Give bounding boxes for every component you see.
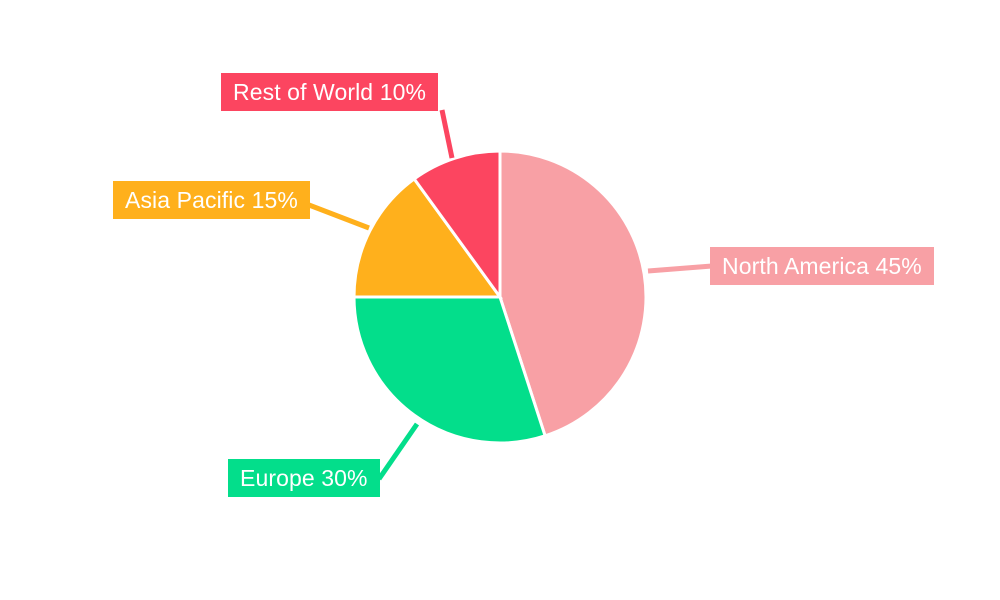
pie-label-north-america[interactable]: North America 45% [710, 247, 934, 285]
pie-label-europe[interactable]: Europe 30% [228, 459, 380, 497]
pie-label-asia-pacific[interactable]: Asia Pacific 15% [113, 181, 310, 219]
leader-line-north-america [648, 266, 712, 271]
pie-chart-canvas: North America 45% Europe 30% Asia Pacifi… [0, 0, 1000, 600]
leader-line-europe [379, 424, 417, 479]
pie-label-rest-of-world[interactable]: Rest of World 10% [221, 73, 438, 111]
leader-line-rest-of-world [442, 110, 452, 158]
pie-chart-svg [0, 0, 1000, 600]
leader-line-asia-pacific [309, 205, 369, 228]
pie-slices [354, 151, 646, 443]
